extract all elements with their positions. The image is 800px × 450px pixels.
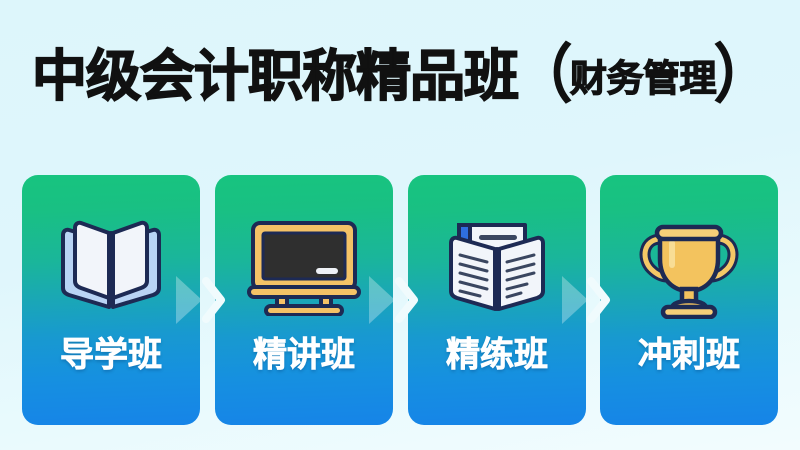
chevron-right-icon <box>585 276 611 324</box>
card-arrow-notch <box>176 276 200 324</box>
card-arrow-notch <box>369 276 393 324</box>
course-step-label: 冲刺班 <box>600 335 778 375</box>
chevron-right-icon <box>200 276 226 324</box>
course-step-card-chongciban[interactable]: 冲刺班 <box>600 175 778 425</box>
course-step-card-jingjiangban[interactable]: 精讲班 <box>215 175 393 425</box>
chevron-right-icon <box>393 276 419 324</box>
card-arrow-notch <box>562 276 586 324</box>
title-paren-open: （ <box>516 45 572 108</box>
trophy-icon <box>600 211 778 323</box>
title-subject-text: 财务管理 <box>570 60 716 97</box>
blackboard-icon <box>215 211 393 323</box>
page-title: 中级会计职称精品班（财务管理） <box>0 48 800 104</box>
course-step-label: 精练班 <box>408 335 586 375</box>
course-step-card-daoxueban[interactable]: 导学班 <box>22 175 200 425</box>
title-paren-close: ） <box>714 45 770 108</box>
title-main-text: 中级会计职称精品班 <box>32 49 518 104</box>
exercise-book-icon <box>408 211 586 323</box>
course-step-label: 精讲班 <box>215 335 393 375</box>
course-step-label: 导学班 <box>22 335 200 375</box>
course-step-card-jinglianban[interactable]: 精练班 <box>408 175 586 425</box>
course-steps-row: 导学班 <box>22 175 778 425</box>
course-poster: 中级会计职称精品班（财务管理） 导学班 <box>0 0 800 450</box>
open-book-icon <box>22 211 200 323</box>
